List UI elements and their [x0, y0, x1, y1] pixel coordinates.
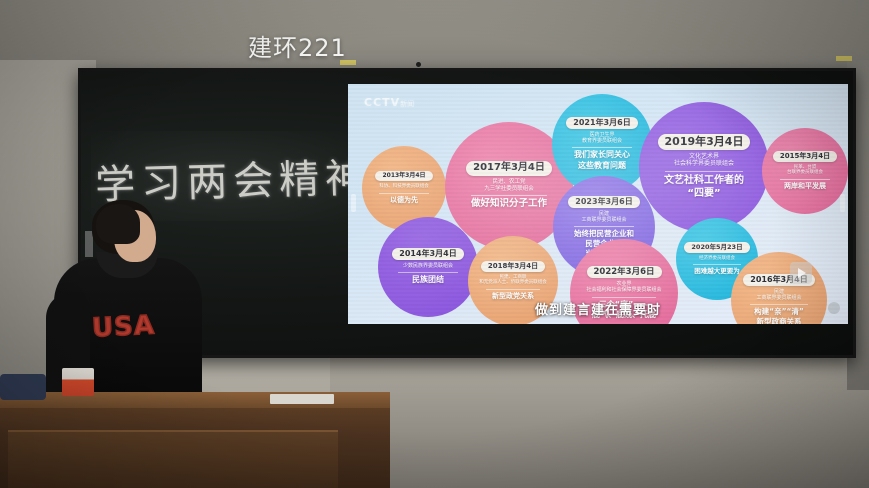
bubble-headline: 文艺社科工作者的“四要” — [664, 174, 744, 200]
bubble-divider — [665, 171, 743, 172]
hoodie-logo-text: USA — [91, 310, 155, 343]
bubble-date: 2013年3月4日 — [375, 171, 432, 181]
bubble-headline: 以德为先 — [390, 196, 418, 205]
play-button[interactable] — [790, 262, 812, 284]
desk-box — [62, 368, 94, 396]
wall-lower-right — [330, 352, 869, 488]
bubble-divider — [592, 297, 656, 298]
bubble-date: 2023年3月6日 — [568, 196, 639, 208]
bubble-date: 2021年3月6日 — [566, 117, 637, 129]
bubble-divider — [486, 289, 539, 290]
slide-bubble[interactable]: 2015年3月4日民革、台盟台联界委员联组会两岸和平发展 — [762, 128, 848, 214]
slide-bubble[interactable]: 2019年3月4日文化艺术界社会科学界委员联组会文艺社科工作者的“四要” — [639, 102, 769, 232]
presenter-hair-front — [96, 204, 140, 244]
bubble-headline: 做好知识分子工作 — [471, 198, 547, 210]
bubble-date: 2017年3月4日 — [466, 161, 552, 176]
wall-upper — [0, 0, 869, 78]
cctv-watermark: CCTV新闻 — [364, 96, 414, 109]
desk-front-panel — [8, 430, 338, 488]
cursor-dot — [416, 62, 421, 67]
bubble-headline: 两岸和平发展 — [784, 182, 826, 191]
bubble-divider — [572, 147, 632, 148]
classroom-video-frame: 学习两会精神 CCTV新闻 2013年3月4日科协、科技界委员联组会以德为先20… — [0, 0, 869, 488]
bubble-headline: 民族团结 — [412, 275, 444, 285]
bubble-divider — [693, 264, 741, 265]
bubble-date: 2014年3月4日 — [392, 248, 463, 260]
bubble-headline: 困难越大更要为 — [694, 267, 740, 275]
bubble-subtitle: 民建工商联界委员联组会 — [581, 211, 626, 224]
screen-nub-left — [351, 194, 356, 212]
bubble-subtitle: 科协、科技界委员联组会 — [379, 184, 429, 190]
led-indicator-right — [836, 56, 852, 61]
bubble-headline: 我们家长同关心这些教育问题 — [574, 150, 630, 171]
bubble-subtitle: 民进、农工党九三学社委员联组会 — [484, 179, 534, 193]
bubble-subtitle: 民革、台盟台联界委员联组会 — [787, 165, 823, 176]
bubble-divider — [574, 226, 635, 227]
bubble-divider — [379, 193, 429, 194]
bubble-date: 2019年3月4日 — [658, 134, 751, 150]
bubble-subtitle: 经济界委员联组会 — [699, 256, 735, 262]
desk-cloth — [0, 374, 46, 400]
desk-paper — [270, 394, 334, 404]
bubble-date: 2022年3月6日 — [587, 266, 662, 279]
bubble-date: 2020年5月23日 — [684, 242, 749, 252]
bubble-divider — [780, 179, 831, 180]
bubble-subtitle: 民建、工商联和无党派人士、侨联界委员联组会 — [479, 275, 547, 286]
presentation-slide[interactable]: CCTV新闻 2013年3月4日科协、科技界委员联组会以德为先2017年3月4日… — [348, 84, 848, 324]
bubble-subtitle: 文化艺术界社会科学界委员联组会 — [674, 153, 734, 168]
bubble-subtitle: 少数民族界委员联组会 — [403, 263, 453, 269]
bubble-divider — [398, 272, 458, 273]
bubble-date: 2018年3月4日 — [481, 261, 545, 272]
bubble-subtitle: 医药卫生界教育界委员联组会 — [582, 132, 622, 145]
overlay-caption: 建环221 — [248, 28, 347, 63]
slide-subtitle: 做到建言建在需要时 — [348, 299, 848, 318]
bubble-subtitle: 农业界社会福利和社会保障界委员联组会 — [586, 281, 661, 294]
screen-nub-right — [840, 194, 845, 212]
bubble-date: 2015年3月4日 — [773, 151, 837, 162]
bubble-divider — [471, 195, 548, 196]
